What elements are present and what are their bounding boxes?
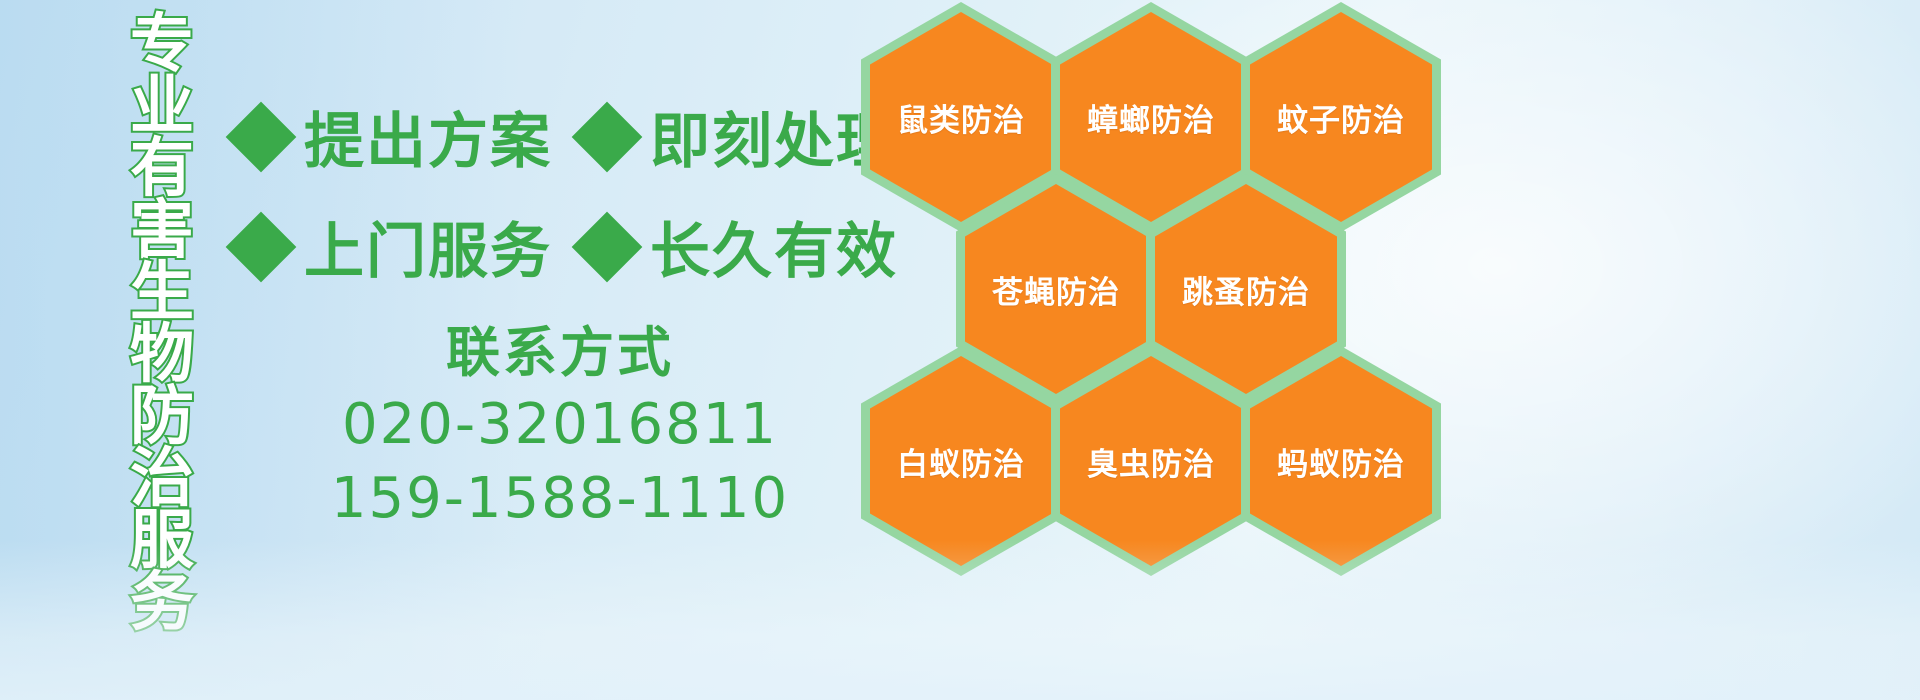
feature-row-2: 上门服务 长久有效 xyxy=(236,203,898,290)
vertical-headline-char: 服 xyxy=(130,510,194,572)
feature-row-1: 提出方案 即刻处理 xyxy=(236,93,898,180)
feature-label: 提出方案 xyxy=(304,93,552,180)
feature-item-propose-plan: 提出方案 xyxy=(236,93,552,180)
vertical-headline-char: 专 xyxy=(130,14,194,76)
vertical-headline-char: 生 xyxy=(130,262,194,324)
services-honeycomb: 鼠类防治 蟑螂防治 蚊子防治 苍蝇防治 跳蚤防治 白蚁防治 xyxy=(855,0,1475,554)
feature-item-long-lasting: 长久有效 xyxy=(582,203,898,290)
diamond-bullet-icon xyxy=(226,101,297,172)
service-hex-bedbug[interactable]: 臭虫防治 xyxy=(1051,346,1251,576)
feature-item-onsite-service: 上门服务 xyxy=(236,203,552,290)
vertical-headline-char: 治 xyxy=(130,448,194,510)
vertical-headline-char: 业 xyxy=(130,76,194,138)
contact-phone-landline[interactable]: 020-32016811 xyxy=(300,388,820,462)
contact-title: 联系方式 xyxy=(300,318,820,388)
contact-block: 联系方式 020-32016811 159-1588-1110 xyxy=(300,318,820,536)
service-label: 白蚁防治 xyxy=(861,346,1061,576)
vertical-headline-char: 害 xyxy=(130,200,194,262)
contact-phone-mobile[interactable]: 159-1588-1110 xyxy=(300,462,820,536)
service-hex-termite[interactable]: 白蚁防治 xyxy=(861,346,1061,576)
vertical-headline-char: 防 xyxy=(130,386,194,448)
feature-item-immediate-treatment: 即刻处理 xyxy=(582,93,898,180)
diamond-bullet-icon xyxy=(572,101,643,172)
vertical-headline: 专 业 有 害 生 物 防 治 服 务 xyxy=(108,14,216,570)
service-hex-ant[interactable]: 蚂蚁防治 xyxy=(1241,346,1441,576)
diamond-bullet-icon xyxy=(572,211,643,282)
service-label: 臭虫防治 xyxy=(1051,346,1251,576)
vertical-headline-char: 有 xyxy=(130,138,194,200)
feature-label: 上门服务 xyxy=(304,203,552,290)
service-label: 蚂蚁防治 xyxy=(1241,346,1441,576)
diamond-bullet-icon xyxy=(226,211,297,282)
vertical-headline-char: 物 xyxy=(130,324,194,386)
vertical-headline-char: 务 xyxy=(130,572,194,634)
pest-control-banner: 专 业 有 害 生 物 防 治 服 务 提出方案 即刻处理 上门服务 长久有效 xyxy=(0,0,1920,700)
